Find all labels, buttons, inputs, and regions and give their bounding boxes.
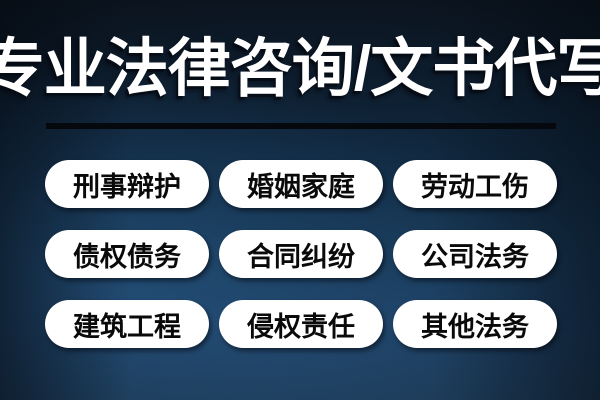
service-pill-tort-liability[interactable]: 侵权责任 [219, 300, 383, 348]
service-pill-marriage-family[interactable]: 婚姻家庭 [219, 160, 383, 208]
service-row: 建筑工程 侵权责任 其他法务 [45, 300, 557, 348]
service-row: 债权债务 合同纠纷 公司法务 [45, 230, 557, 278]
service-pill-creditor-debt[interactable]: 债权债务 [45, 230, 209, 278]
service-pill-labor-injury[interactable]: 劳动工伤 [393, 160, 557, 208]
service-pill-contract-dispute[interactable]: 合同纠纷 [219, 230, 383, 278]
service-pill-grid: 刑事辩护 婚姻家庭 劳动工伤 债权债务 合同纠纷 公司法务 建筑工程 侵权责任 … [45, 160, 557, 348]
service-pill-criminal-defense[interactable]: 刑事辩护 [45, 160, 209, 208]
title-divider [46, 123, 556, 129]
service-pill-construction-engineering[interactable]: 建筑工程 [45, 300, 209, 348]
service-row: 刑事辩护 婚姻家庭 劳动工伤 [45, 160, 557, 208]
service-pill-other-legal[interactable]: 其他法务 [393, 300, 557, 348]
legal-service-poster: 专业法律咨询/文书代写 刑事辩护 婚姻家庭 劳动工伤 债权债务 合同纠纷 公司法… [0, 0, 600, 400]
page-title: 专业法律咨询/文书代写 [0, 26, 600, 112]
service-pill-corporate-legal[interactable]: 公司法务 [393, 230, 557, 278]
